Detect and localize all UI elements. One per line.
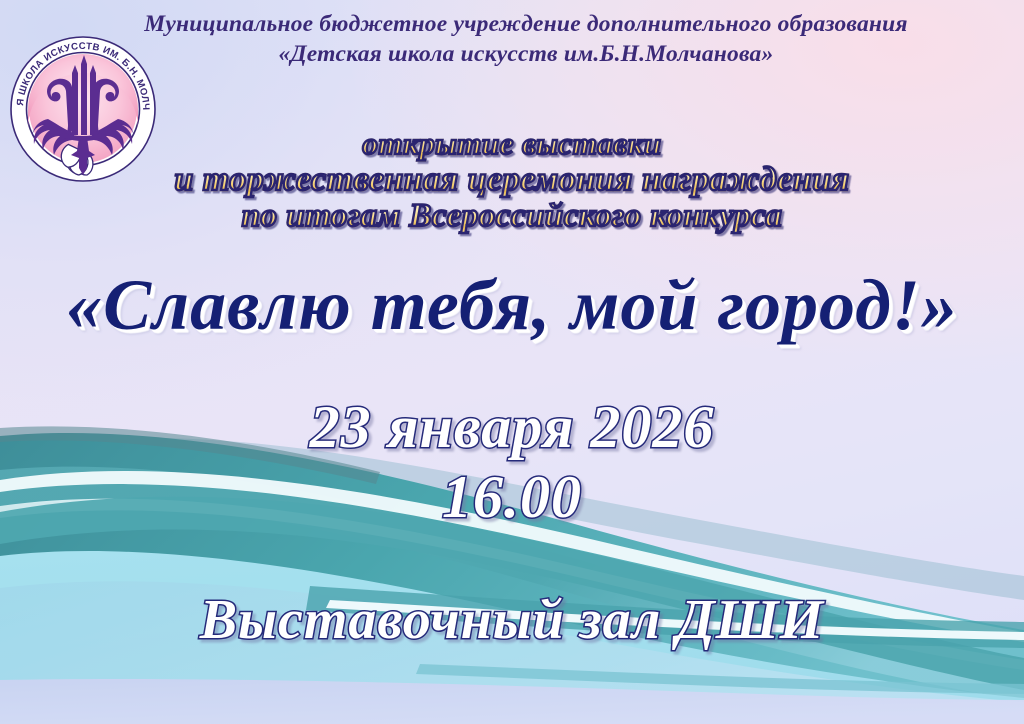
event-subtitle-line-1: открытие выставки xyxy=(0,126,1024,162)
event-date: 23 января 2026 xyxy=(0,392,1024,462)
event-time: 16.00 xyxy=(0,462,1024,532)
event-venue: Выставочный зал ДШИ xyxy=(0,584,1024,656)
event-datetime-block: 23 января 2026 16.00 xyxy=(0,392,1024,532)
brushes-icon xyxy=(72,55,96,135)
organization-line-1: Муниципальное бюджетное учреждение допол… xyxy=(96,9,956,39)
event-venue-block: Выставочный зал ДШИ xyxy=(0,584,1024,656)
event-title: «Славлю тебя, мой город!» xyxy=(0,262,1024,348)
event-subtitle-line-2: и торжественная церемония награждения xyxy=(0,162,1024,198)
organization-line-2: «Детская школа искусств им.Б.Н.Молчанова… xyxy=(96,39,956,69)
organization-header: Муниципальное бюджетное учреждение допол… xyxy=(96,9,956,69)
event-title-block: «Славлю тебя, мой город!» xyxy=(0,262,1024,348)
event-subtitle-line-3: по итогам Всероссийского конкурса xyxy=(0,198,1024,234)
event-subtitle: открытие выставки и торжественная церемо… xyxy=(0,126,1024,234)
poster-canvas: ДЕТСКАЯ ШКОЛА ИСКУССТВ ИМ. Б.Н. МОЛЧАНОВ… xyxy=(0,0,1024,724)
